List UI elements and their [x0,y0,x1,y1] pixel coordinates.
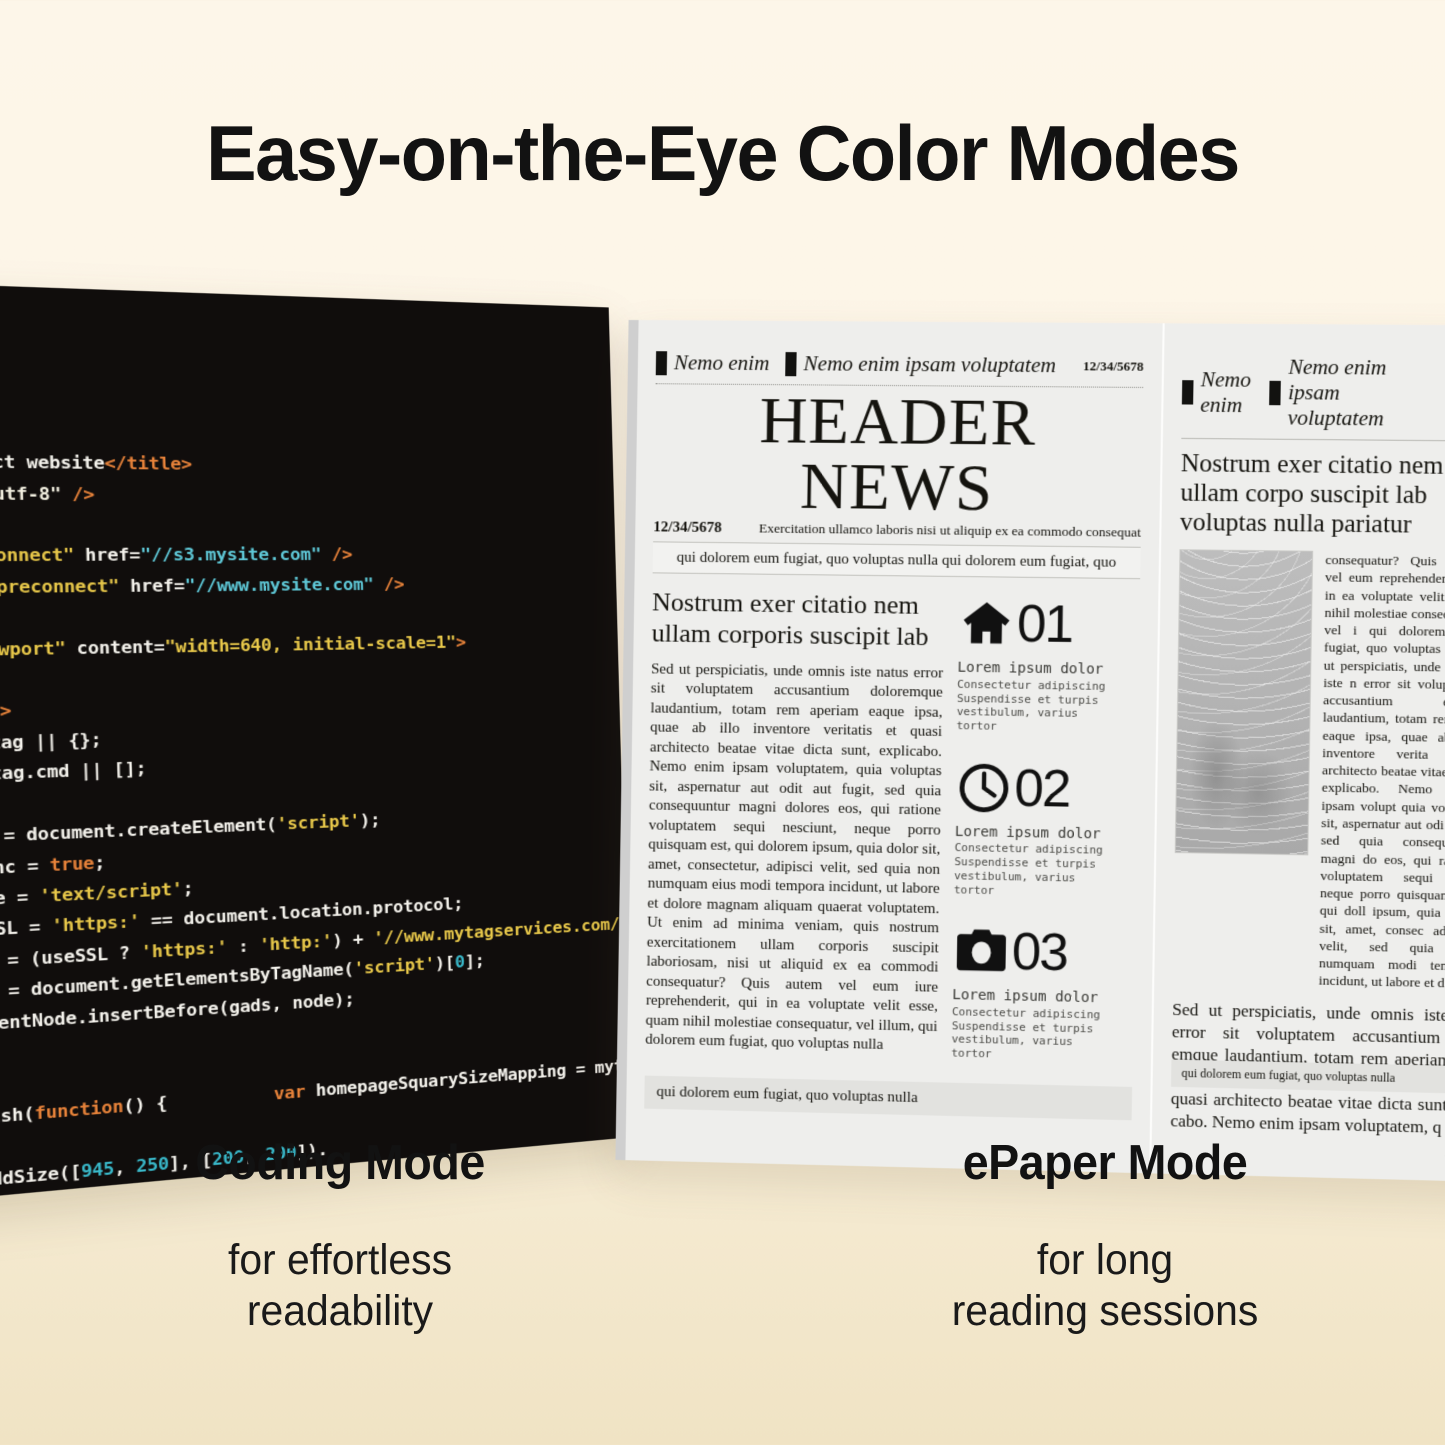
page-b-column-text: consequatur? Quis autem vel eum reprehen… [1319,551,1445,993]
article-body: Sed ut perspiciatis, unde omnis iste nat… [645,660,943,1057]
caption-line: vestibulum, varius tortor [956,705,1109,735]
epaper-mode-device: Nemo enim Nemo enim ipsam voluptatem 12/… [615,320,1445,1182]
square-marker-icon [1269,380,1281,404]
masthead-item: Nemo enim [656,350,770,376]
main-article: Nostrum exer citatio nem ullam corporis … [644,588,944,1099]
code-line [0,509,615,541]
square-marker-icon [656,351,667,375]
page-b-headline: Nostrum exer citatio nem ullam corpo sus… [1180,449,1445,540]
caption-line: Lorem ipsum dolor [957,660,1110,680]
feature-item: 02 Lorem ipsum dolor Consectetur adipisc… [954,755,1109,899]
epaper-mode-title: ePaper Mode [806,1135,1405,1191]
subtitle-line: readability [46,1286,635,1337]
code-editor-screen: <!DOCTYPE html> <html lang="en"> <head> … [0,277,631,1218]
home-icon [958,598,1016,651]
divider [1181,438,1445,442]
masthead-page-a: Nemo enim Nemo enim ipsam voluptatem 12/… [656,350,1144,379]
feature-item: 01 Lorem ipsum dolor Consectetur adipisc… [956,591,1111,735]
article-headline: Nostrum exer citatio nem ullam corporis … [651,588,944,652]
feature-number: 02 [1014,762,1070,815]
masthead-item: Nemo enim ipsam voluptatem [1269,354,1439,432]
newspaper-page-a: Nemo enim Nemo enim ipsam voluptatem 12/… [625,320,1164,1173]
clock-icon [955,760,1013,815]
square-marker-icon [1182,380,1194,404]
page-b-columns: consequatur? Quis autem vel eum reprehen… [1173,549,1445,992]
epaper-mode-subtitle: for long reading sessions [806,1235,1405,1336]
coding-mode-device: <!DOCTYPE html> <html lang="en"> <head> … [0,277,631,1218]
coding-mode-title: Coding Mode [46,1135,635,1191]
subtitle-line: for long [806,1235,1405,1286]
coding-mode-subtitle: for effortless readability [46,1235,635,1336]
caption-line: vestibulum, varius tortor [951,1033,1104,1064]
caption-line: vestibulum, varius tortor [954,869,1107,900]
camera-icon [953,927,1011,977]
epaper-screen: Nemo enim Nemo enim ipsam voluptatem 12/… [625,320,1445,1182]
feature-caption: Lorem ipsum dolor Consectetur adipiscing… [951,987,1105,1064]
square-marker-icon [785,352,796,376]
code-line: <meta charset="utf-8" /> [0,477,614,512]
article-figure-image [1175,549,1313,855]
masthead-label-2: Nemo enim ipsam voluptatem [803,351,1056,378]
newspaper-page-b: Nemo enim Nemo enim ipsam voluptatem 12/… [1151,323,1445,1182]
subtitle-line: for effortless [46,1235,635,1286]
masthead-item: Nemo enim [1182,366,1254,417]
device-showcase: <!DOCTYPE html> <html lang="en"> <head> … [0,300,1445,1160]
feature-header: 03 [952,919,1106,987]
strapline: qui dolorem eum fugiat, quo voluptas nul… [653,542,1141,580]
title-meta-row: 12/34/5678 Exercitation ullamco laboris … [653,520,1141,542]
masthead-label-1: Nemo enim [1200,367,1253,418]
feature-item: 03 Lorem ipsum dolor Consectetur adipisc… [951,919,1106,1064]
subtitle-line: reading sessions [806,1286,1405,1337]
issue-date: 12/34/5678 [653,520,722,538]
feature-caption: Lorem ipsum dolor Consectetur adipiscing… [954,824,1108,900]
masthead-label-1: Nemo enim [674,350,770,376]
feature-caption: Lorem ipsum dolor Consectetur adipiscing… [956,660,1110,735]
masthead-item: Nemo enim ipsam voluptatem [785,351,1056,378]
feature-header: 02 [955,755,1109,822]
masthead-date: 12/34/5678 [1083,358,1144,375]
coding-mode-caption: Coding Mode for effortless readability [30,1135,650,1336]
page-title: Easy-on-the-Eye Color Modes [22,108,1424,199]
feature-number: 01 [1017,598,1073,651]
page-a-columns: Nostrum exer citatio nem ullam corporis … [644,588,1139,1103]
masthead-label-2: Nemo enim ipsam voluptatem [1287,355,1438,432]
feature-sidebar: 01 Lorem ipsum dolor Consectetur adipisc… [951,591,1112,1102]
epaper-mode-caption: ePaper Mode for long reading sessions [790,1135,1420,1336]
issue-subtitle: Exercitation ullamco laboris nisi ut ali… [732,521,1141,540]
code-line: <link rel="preconnect" href="//s3.mysite… [0,540,616,572]
newspaper-title: HEADER NEWS [653,388,1143,523]
masthead-page-b: Nemo enim Nemo enim ipsam voluptatem 12/… [1181,354,1445,433]
feature-header: 01 [958,591,1112,658]
feature-number: 03 [1011,926,1067,980]
